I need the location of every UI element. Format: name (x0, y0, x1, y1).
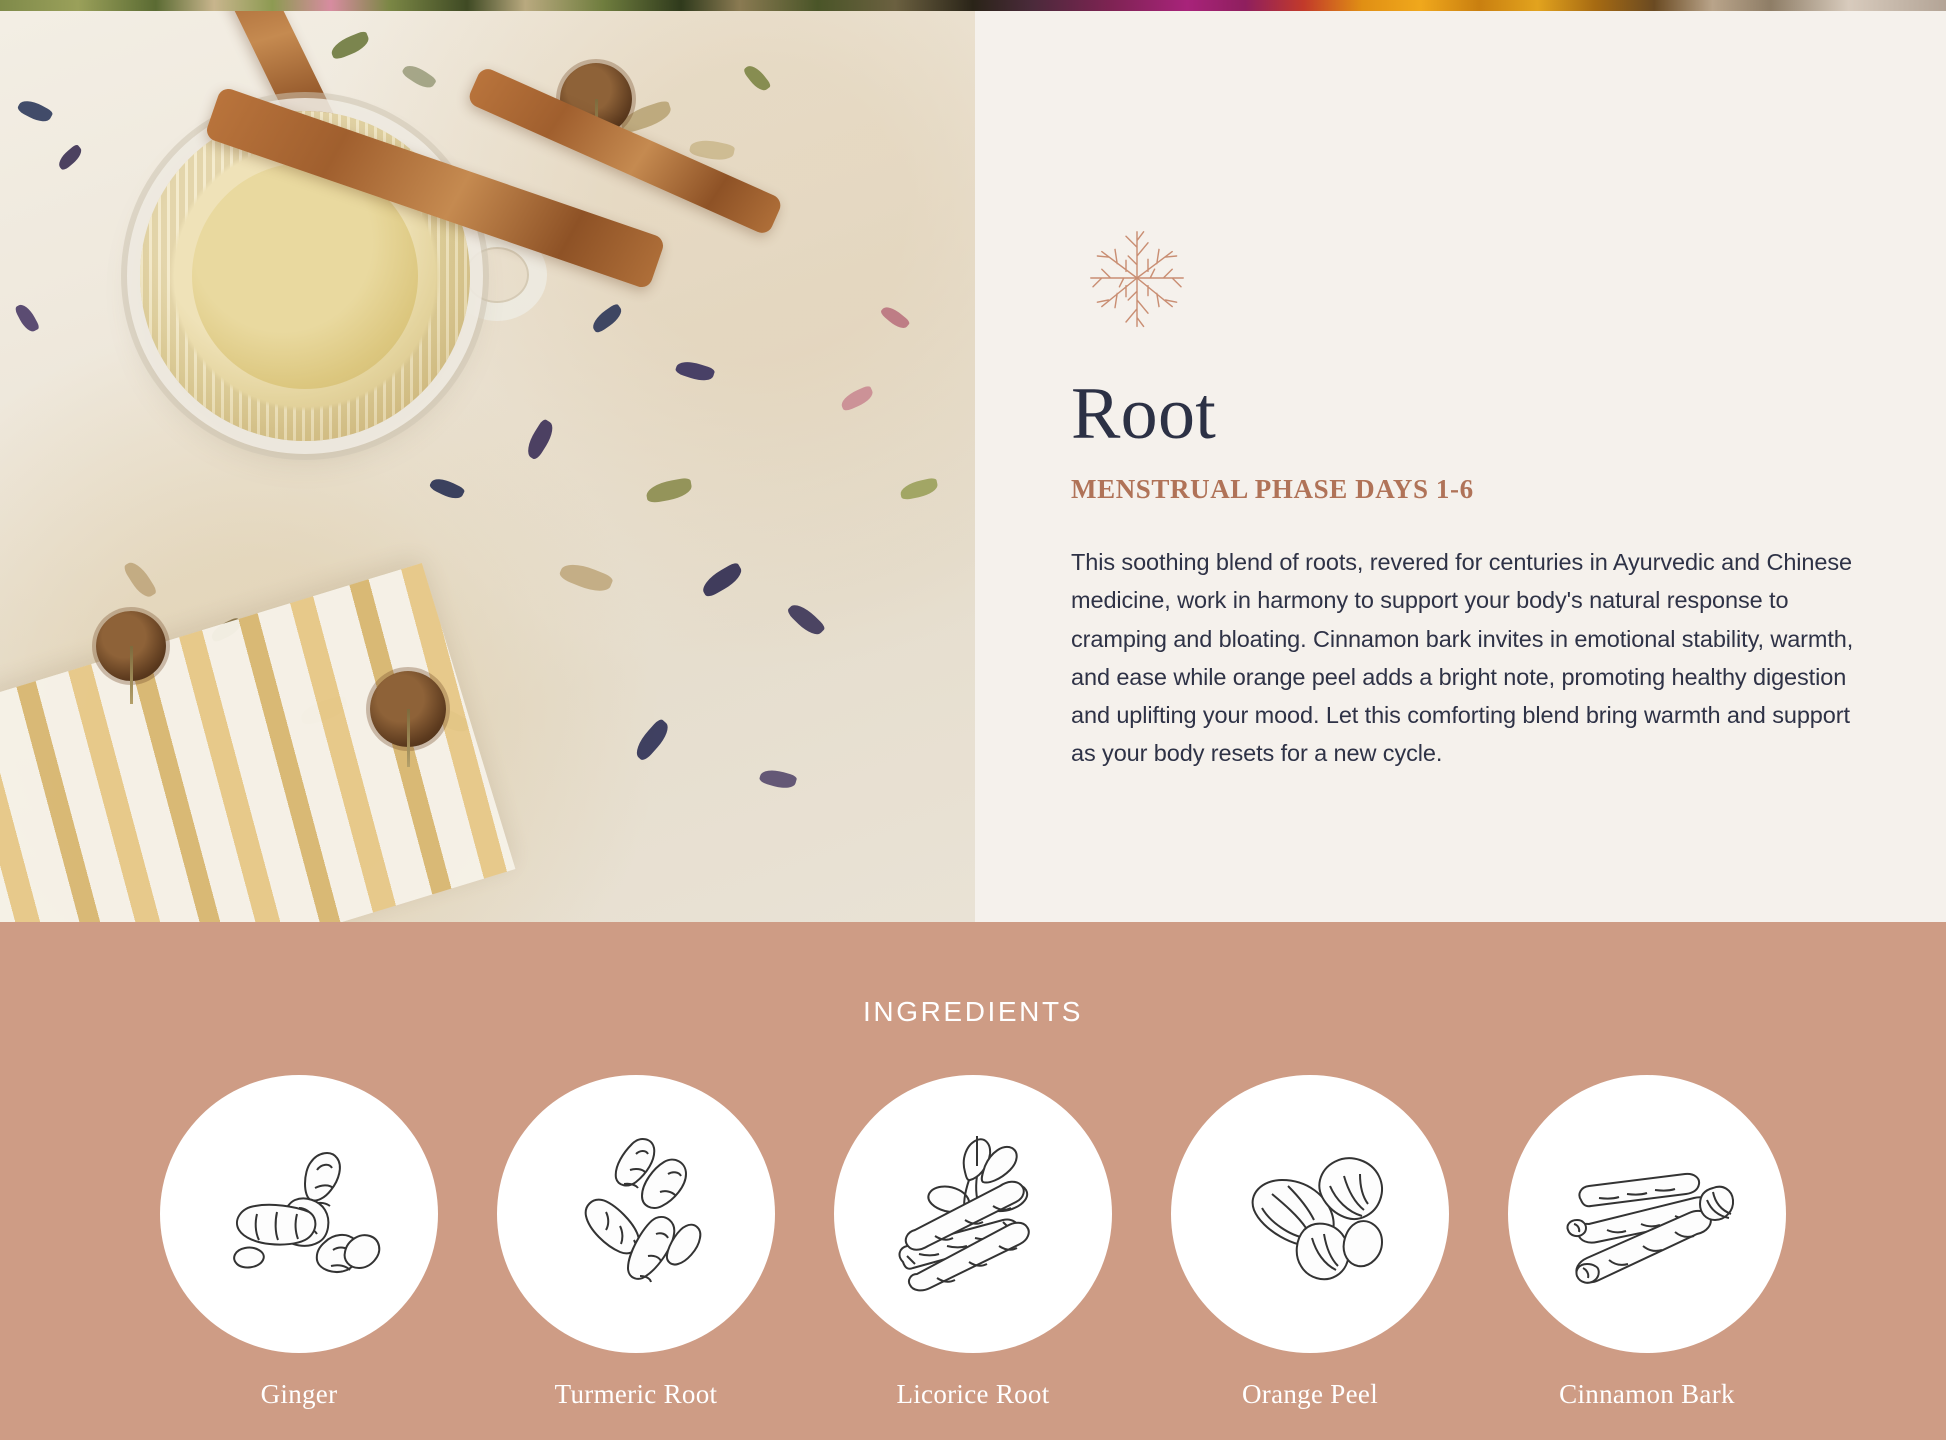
ingredient-item[interactable]: Ginger (160, 1075, 438, 1410)
phase-subtitle: MENSTRUAL PHASE DAYS 1-6 (1071, 473, 1856, 505)
cinnamon-bark-icon (1547, 1114, 1747, 1314)
ingredient-item[interactable]: Licorice Root (834, 1075, 1112, 1410)
ingredient-icon-circle (160, 1075, 438, 1353)
product-info-panel: Root MENSTRUAL PHASE DAYS 1-6 This sooth… (975, 11, 1946, 922)
product-page: Root MENSTRUAL PHASE DAYS 1-6 This sooth… (0, 0, 1946, 1440)
previous-section-sliver (0, 0, 1946, 11)
ingredients-section: INGREDIENTS (0, 922, 1946, 1440)
ingredient-icon-circle (1171, 1075, 1449, 1353)
ingredient-label: Cinnamon Bark (1508, 1379, 1786, 1410)
ingredients-row: Ginger Turmer (0, 1075, 1946, 1410)
ingredient-icon-circle (1508, 1075, 1786, 1353)
dried-flower-head (370, 671, 446, 747)
ingredient-label: Licorice Root (834, 1379, 1112, 1410)
ingredient-label: Ginger (160, 1379, 438, 1410)
dried-flower-head (96, 611, 166, 681)
orange-peel-icon (1210, 1114, 1410, 1314)
ingredient-label: Turmeric Root (497, 1379, 775, 1410)
hero-tea-photo (0, 11, 975, 922)
ingredient-item[interactable]: Turmeric Root (497, 1075, 775, 1410)
ingredients-heading: INGREDIENTS (0, 922, 1946, 1028)
ingredient-item[interactable]: Cinnamon Bark (1508, 1075, 1786, 1410)
page-title: Root (1071, 377, 1856, 451)
ginger-root-icon (199, 1114, 399, 1314)
product-description: This soothing blend of roots, revered fo… (1071, 543, 1856, 771)
ingredient-icon-circle (834, 1075, 1112, 1353)
licorice-root-icon (873, 1114, 1073, 1314)
turmeric-root-icon (536, 1114, 736, 1314)
ingredient-item[interactable]: Orange Peel (1171, 1075, 1449, 1410)
root-branch-icon (1071, 223, 1203, 333)
ingredient-label: Orange Peel (1171, 1379, 1449, 1410)
ingredient-icon-circle (497, 1075, 775, 1353)
